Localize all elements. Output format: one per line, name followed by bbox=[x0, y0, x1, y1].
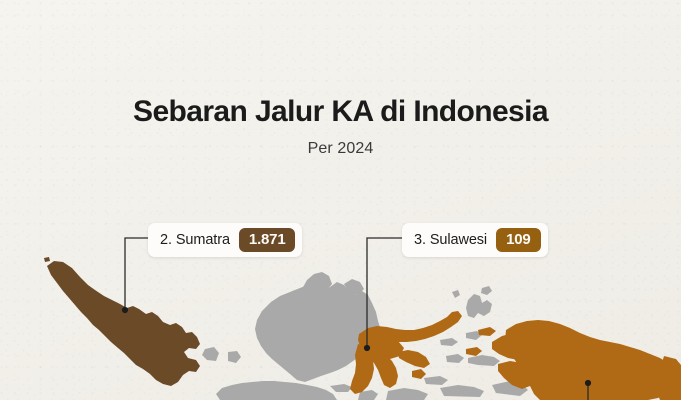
island-flores bbox=[440, 385, 484, 397]
page-subtitle: Per 2024 bbox=[0, 128, 681, 158]
island-buton bbox=[412, 369, 426, 379]
island-bangka bbox=[202, 347, 219, 361]
header: Sebaran Jalur KA di Indonesia Per 2024 bbox=[0, 0, 681, 158]
infographic-root: Sebaran Jalur KA di Indonesia Per 2024 bbox=[0, 0, 681, 400]
callout-sulawesi-label: 3. Sulawesi bbox=[414, 232, 487, 248]
island-sumba bbox=[424, 376, 448, 385]
island-misool bbox=[466, 347, 482, 356]
island-seram bbox=[468, 355, 500, 366]
island-talaud bbox=[452, 290, 460, 298]
islet-weh bbox=[44, 257, 50, 262]
island-sula bbox=[440, 338, 458, 346]
callout-sulawesi[interactable]: 3. Sulawesi 109 bbox=[402, 223, 548, 257]
island-halmahera bbox=[466, 294, 492, 318]
callout-sumatra[interactable]: 2. Sumatra 1.871 bbox=[148, 223, 302, 257]
island-madura bbox=[330, 384, 352, 392]
island-lombok-sumbawa bbox=[386, 388, 428, 400]
island-belitung bbox=[228, 351, 241, 363]
island-papua bbox=[505, 320, 674, 400]
island-sulawesi-southeast-arm bbox=[398, 350, 430, 368]
island-salawati bbox=[478, 327, 496, 336]
callout-sumatra-label: 2. Sumatra bbox=[160, 232, 230, 248]
callout-sumatra-value-badge: 1.871 bbox=[239, 228, 296, 252]
island-buru bbox=[446, 354, 464, 363]
island-jawa bbox=[216, 381, 337, 400]
island-sumatra bbox=[47, 261, 200, 386]
callout-sulawesi-value-badge: 109 bbox=[496, 228, 540, 252]
island-morotai bbox=[481, 286, 492, 295]
page-title: Sebaran Jalur KA di Indonesia bbox=[0, 0, 681, 128]
